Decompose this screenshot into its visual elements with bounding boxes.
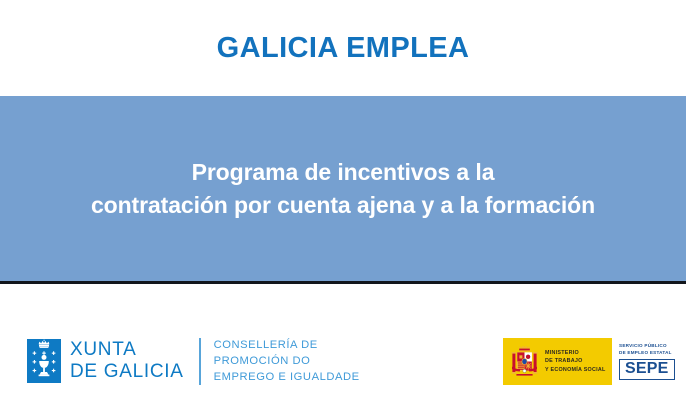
sepe-mark-box: SEPE bbox=[619, 359, 675, 380]
ministerio-trabajo-logo: MINISTERIO DE TRABAJO Y ECONOMÍA SOCIAL bbox=[503, 338, 612, 385]
conselleria-line-3: EMPREGO E IGUALDADE bbox=[214, 369, 360, 385]
ministerio-wordmark: MINISTERIO DE TRABAJO Y ECONOMÍA SOCIAL bbox=[545, 349, 606, 374]
footer-logos: XUNTA DE GALICIA CONSELLERÍA DE PROMOCIÓ… bbox=[0, 287, 686, 410]
gobierno-logos: MINISTERIO DE TRABAJO Y ECONOMÍA SOCIAL … bbox=[503, 338, 686, 385]
sepe-line-2: DE EMPLEO ESTATAL bbox=[619, 350, 686, 357]
sepe-subtitle: SERVICIO PÚBLICO DE EMPLEO ESTATAL bbox=[619, 343, 686, 357]
program-banner: Programa de incentivos a la contratación… bbox=[0, 96, 686, 284]
sepe-mark: SEPE bbox=[625, 360, 669, 378]
spain-coat-of-arms-icon bbox=[511, 345, 538, 379]
page-title: GALICIA EMPLEA bbox=[217, 34, 470, 63]
logo-divider bbox=[199, 338, 201, 385]
galicia-coat-of-arms-icon bbox=[27, 339, 61, 383]
header: GALICIA EMPLEA bbox=[0, 0, 686, 96]
sepe-logo: SERVICIO PÚBLICO DE EMPLEO ESTATAL SEPE bbox=[612, 338, 686, 385]
banner-line-1: Programa de incentivos a la bbox=[192, 159, 495, 185]
xunta-wordmark-line-1: XUNTA bbox=[70, 339, 184, 361]
ministerio-line-3: Y ECONOMÍA SOCIAL bbox=[545, 366, 606, 374]
xunta-wordmark: XUNTA DE GALICIA bbox=[70, 339, 184, 384]
ministerio-line-1: MINISTERIO bbox=[545, 349, 606, 357]
conselleria-wordmark: CONSELLERÍA DE PROMOCIÓN DO EMPREGO E IG… bbox=[214, 337, 360, 386]
ministerio-line-2: DE TRABAJO bbox=[545, 357, 606, 365]
sepe-line-1: SERVICIO PÚBLICO bbox=[619, 343, 686, 350]
banner-text: Programa de incentivos a la contratación… bbox=[77, 156, 609, 221]
conselleria-line-1: CONSELLERÍA DE bbox=[214, 337, 360, 353]
conselleria-line-2: PROMOCIÓN DO bbox=[214, 353, 360, 369]
banner-line-2: contratación por cuenta ajena y a la for… bbox=[91, 189, 595, 222]
xunta-de-galicia-logo: XUNTA DE GALICIA CONSELLERÍA DE PROMOCIÓ… bbox=[27, 337, 360, 386]
xunta-wordmark-line-2: DE GALICIA bbox=[70, 361, 184, 383]
